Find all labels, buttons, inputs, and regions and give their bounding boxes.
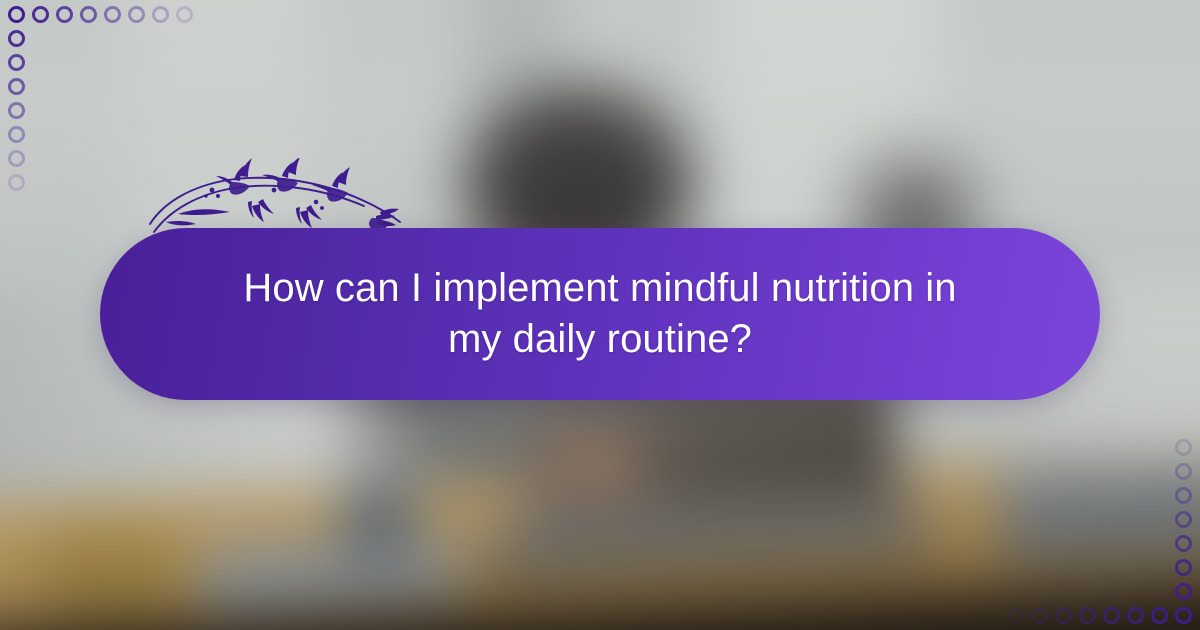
corner-dots-bottom-right — [1007, 439, 1192, 624]
decor-dot — [8, 174, 25, 191]
decor-dot — [128, 6, 145, 23]
decor-dot — [8, 54, 25, 71]
decor-dot — [1175, 559, 1192, 576]
decor-dot — [8, 126, 25, 143]
decor-dot — [8, 30, 25, 47]
decor-dot — [152, 6, 169, 23]
decor-dot — [1055, 607, 1072, 624]
decor-dot — [1007, 607, 1024, 624]
question-card: How can I implement mindful nutrition in… — [0, 0, 1200, 630]
decor-dot — [1175, 487, 1192, 504]
decor-dot — [8, 150, 25, 167]
decor-dot — [80, 6, 97, 23]
decor-dot — [1175, 511, 1192, 528]
decor-dot — [1103, 607, 1120, 624]
question-pill: How can I implement mindful nutrition in… — [100, 228, 1100, 400]
decor-dot — [1175, 583, 1192, 600]
decor-dot — [1151, 607, 1168, 624]
decor-dot — [1175, 463, 1192, 480]
decor-dot — [8, 78, 25, 95]
decor-dot — [1031, 607, 1048, 624]
decor-dot — [176, 6, 193, 23]
decor-dot — [1175, 535, 1192, 552]
decor-dot — [1175, 607, 1192, 624]
decor-dot — [1175, 439, 1192, 456]
decor-dot — [1127, 607, 1144, 624]
decor-dot — [1079, 607, 1096, 624]
decor-dot — [32, 6, 49, 23]
decor-dot — [8, 102, 25, 119]
decor-dot — [56, 6, 73, 23]
question-text: How can I implement mindful nutrition in… — [200, 263, 1000, 365]
corner-dots-top-left — [8, 6, 193, 191]
decor-dot — [8, 6, 25, 23]
decor-dot — [104, 6, 121, 23]
